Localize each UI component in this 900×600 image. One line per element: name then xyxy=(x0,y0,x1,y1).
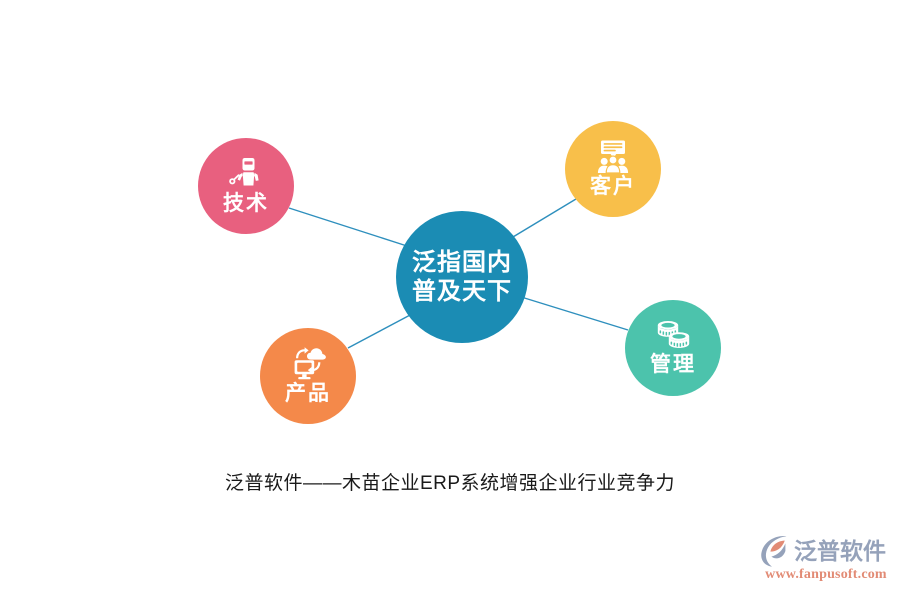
node-technology-label: 技术 xyxy=(223,192,269,216)
watermark: 泛普软件 www.fanpusoft.com xyxy=(758,533,894,591)
edge-tech-center xyxy=(289,208,407,246)
watermark-brand-name: 泛普软件 xyxy=(794,534,886,568)
caption-text: 泛普软件——木苗企业ERP系统增强企业行业竞争力 xyxy=(0,468,900,495)
edge-customer-center xyxy=(508,199,576,240)
watermark-url: www.fanpusoft.com xyxy=(758,567,894,583)
center-label-line-2: 普及天下 xyxy=(412,277,512,306)
edge-manage-center xyxy=(518,296,628,330)
node-product[interactable]: 产品 xyxy=(260,328,356,424)
node-product-label: 产品 xyxy=(285,382,331,406)
edge-product-center xyxy=(348,314,412,348)
node-management[interactable]: 管理 xyxy=(625,300,721,396)
center-label-line-1: 泛指国内 xyxy=(412,248,512,277)
node-center-hub[interactable]: 泛指国内 普及天下 xyxy=(396,211,528,343)
node-customer[interactable]: 客户 xyxy=(565,121,661,217)
node-management-label: 管理 xyxy=(650,353,696,377)
coin-stacks-icon xyxy=(653,320,693,352)
node-technology[interactable]: 技术 xyxy=(198,138,294,234)
node-customer-label: 客户 xyxy=(590,175,636,199)
fanpu-swoosh-logo-icon xyxy=(758,534,792,568)
customer-chat-icon xyxy=(593,140,633,174)
watermark-brand-row: 泛普软件 xyxy=(758,533,894,569)
welder-icon xyxy=(227,157,265,191)
diagram-canvas: 技术 客户 xyxy=(0,0,900,600)
cloud-monitor-sync-icon xyxy=(288,347,328,381)
